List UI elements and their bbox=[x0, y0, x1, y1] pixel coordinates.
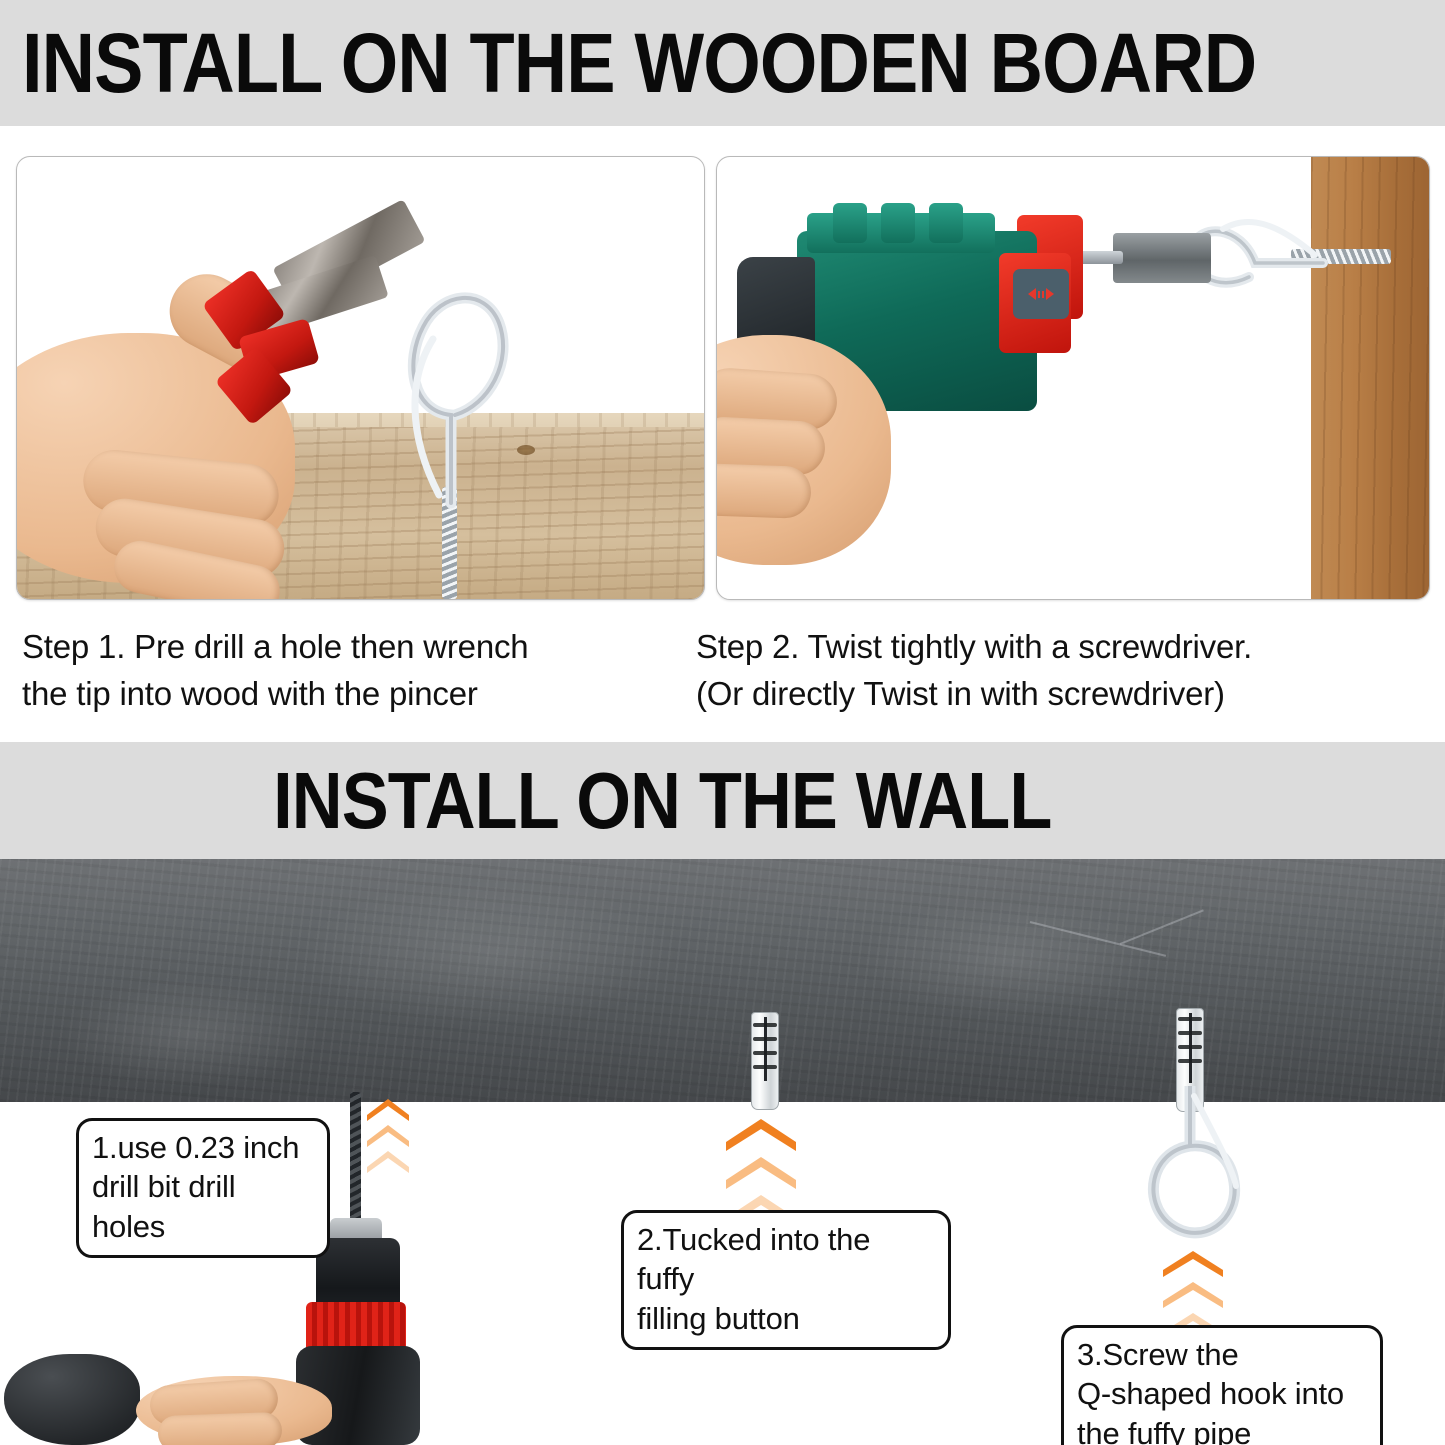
arrow-group-1 bbox=[366, 1098, 410, 1174]
plug-rib bbox=[1178, 1045, 1202, 1049]
finger bbox=[716, 463, 812, 519]
section-header-wall: INSTALL ON THE WALL bbox=[0, 742, 1445, 859]
wall-anchor-plug bbox=[751, 1012, 779, 1110]
wall-blotch bbox=[860, 899, 1160, 1019]
plug-rib bbox=[1178, 1017, 1202, 1021]
plug-rib bbox=[1178, 1031, 1202, 1035]
concrete-wall bbox=[0, 859, 1445, 1102]
drill-battery bbox=[4, 1354, 140, 1445]
plug-rib bbox=[753, 1037, 777, 1041]
chevron-up-icon bbox=[1162, 1281, 1224, 1309]
section-title-wall: INSTALL ON THE WALL bbox=[273, 761, 1051, 841]
callout-3-line-2: Q-shaped hook into bbox=[1077, 1374, 1367, 1413]
section-header-wooden-board: INSTALL ON THE WOODEN BOARD bbox=[0, 0, 1445, 126]
step-2-caption: Step 2. Twist tightly with a screwdriver… bbox=[696, 624, 1436, 718]
plug-rib bbox=[1178, 1059, 1202, 1063]
left-right-arrow-icon bbox=[1018, 284, 1064, 304]
wall-blotch bbox=[60, 979, 320, 1089]
chevron-up-icon bbox=[366, 1124, 410, 1148]
drill-bit bbox=[350, 1092, 361, 1224]
step-1-photo bbox=[16, 156, 705, 600]
plug-rib bbox=[753, 1065, 777, 1069]
section-title-wooden-board: INSTALL ON THE WOODEN BOARD bbox=[22, 21, 1256, 105]
callout-2-line-2: filling button bbox=[637, 1299, 935, 1338]
chevron-up-icon bbox=[1162, 1250, 1224, 1278]
chevron-up-icon bbox=[366, 1098, 410, 1122]
finger bbox=[157, 1412, 282, 1445]
callout-step-2: 2.Tucked into the fuffy filling button bbox=[621, 1210, 951, 1350]
step-1-caption-line-1: Step 1. Pre drill a hole then wrench bbox=[22, 624, 682, 671]
callout-step-3: 3.Screw the Q-shaped hook into the fuffy… bbox=[1061, 1325, 1383, 1445]
callout-3-line-1: 3.Screw the bbox=[1077, 1335, 1367, 1374]
callout-1-line-2: drill bit drill holes bbox=[92, 1167, 314, 1246]
chevron-up-icon bbox=[725, 1118, 797, 1152]
step-2-caption-line-1: Step 2. Twist tightly with a screwdriver… bbox=[696, 624, 1436, 671]
wood-knot bbox=[517, 445, 535, 455]
driver-ridge bbox=[929, 203, 963, 243]
callout-step-1: 1.use 0.23 inch drill bit drill holes bbox=[76, 1118, 330, 1258]
plug-rib bbox=[753, 1051, 777, 1055]
driver-ridge bbox=[881, 203, 915, 243]
driver-ridge bbox=[833, 203, 867, 243]
step-2-photo bbox=[716, 156, 1430, 600]
callout-3-line-3: the fuffy pipe bbox=[1077, 1414, 1367, 1445]
chevron-up-icon bbox=[725, 1156, 797, 1190]
step-1-caption-line-2: the tip into wood with the pincer bbox=[22, 671, 682, 718]
q-hook-installed bbox=[1136, 1086, 1272, 1242]
callout-2-line-1: 2.Tucked into the fuffy bbox=[637, 1220, 935, 1299]
instruction-infographic: INSTALL ON THE WOODEN BOARD bbox=[0, 0, 1445, 1445]
driver-socket-bit bbox=[1113, 233, 1211, 283]
plug-rib bbox=[753, 1023, 777, 1027]
step-2-caption-line-2: (Or directly Twist in with screwdriver) bbox=[696, 671, 1436, 718]
driver-direction-switch bbox=[1013, 269, 1069, 319]
q-hook-loop bbox=[389, 265, 513, 515]
wall-blotch bbox=[300, 879, 680, 1029]
chevron-up-icon bbox=[366, 1150, 410, 1174]
callout-1-line-1: 1.use 0.23 inch bbox=[92, 1128, 314, 1167]
step-1-caption: Step 1. Pre drill a hole then wrench the… bbox=[22, 624, 682, 718]
